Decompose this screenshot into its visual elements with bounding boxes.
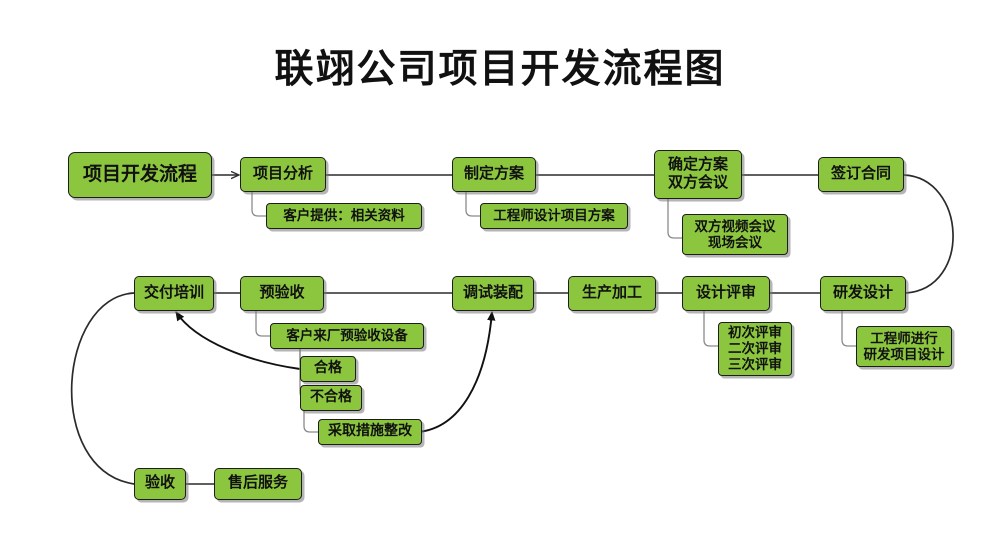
node-delivery-training[interactable]: 交付培训 — [134, 276, 214, 311]
node-acceptance[interactable]: 验收 — [134, 468, 186, 500]
node-project-analysis[interactable]: 项目分析 — [240, 157, 326, 192]
link-contract-to-rd — [904, 175, 953, 293]
link-delivery-to-acceptance — [72, 293, 134, 484]
node-engineer-designs-plan[interactable]: 工程师设计项目方案 — [480, 203, 628, 229]
node-client-onsite-pre-acceptance[interactable]: 客户来厂预验收设备 — [270, 323, 424, 349]
connector-layer — [0, 0, 1000, 541]
elbow-analysis-sub — [252, 192, 266, 216]
node-formulate-plan[interactable]: 制定方案 — [452, 157, 536, 192]
elbow-plan-sub — [466, 192, 480, 216]
node-client-provides-materials[interactable]: 客户提供：相关资料 — [266, 203, 422, 229]
node-production-processing[interactable]: 生产加工 — [568, 276, 656, 311]
node-after-sales-service[interactable]: 售后服务 — [214, 468, 302, 500]
node-rd-design[interactable]: 研发设计 — [820, 276, 906, 311]
node-pre-acceptance[interactable]: 预验收 — [240, 276, 324, 311]
node-take-corrective-measures[interactable]: 采取措施整改 — [318, 419, 422, 445]
elbow-review-sub — [704, 310, 718, 346]
flowchart-canvas: 联翊公司项目开发流程图 — [0, 0, 1000, 541]
node-video-and-onsite-meeting[interactable]: 双方视频会议 现场会议 — [682, 214, 788, 255]
elbow-rd-sub — [842, 310, 856, 346]
node-sign-contract[interactable]: 签订合同 — [818, 157, 904, 192]
node-debug-assembly[interactable]: 调试装配 — [452, 276, 534, 311]
node-project-development-process[interactable]: 项目开发流程 — [68, 152, 212, 198]
link-rectify-to-assembly — [418, 312, 492, 432]
node-qualified[interactable]: 合格 — [300, 356, 356, 382]
elbow-preaccept-sub — [256, 310, 270, 336]
elbow-confirm-sub — [668, 199, 682, 238]
node-review-rounds[interactable]: 初次评审 二次评审 三次评审 — [718, 322, 792, 376]
node-engineer-rd-project-design[interactable]: 工程师进行 研发项目设计 — [856, 326, 952, 367]
node-design-review[interactable]: 设计评审 — [682, 276, 770, 311]
node-confirm-plan-bilateral-meeting[interactable]: 确定方案 双方会议 — [654, 150, 742, 199]
node-unqualified[interactable]: 不合格 — [300, 385, 362, 411]
